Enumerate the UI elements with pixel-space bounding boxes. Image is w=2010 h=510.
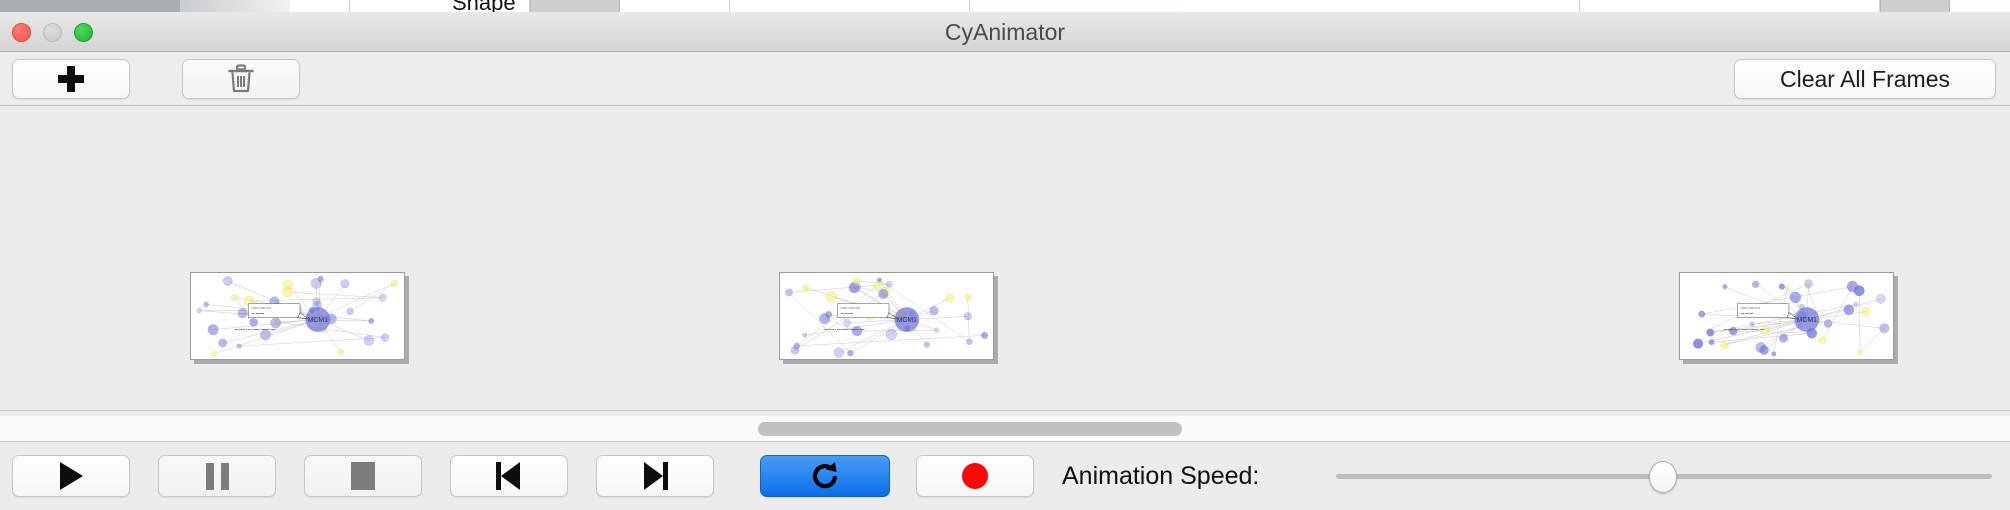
background-cell [290,0,350,12]
network-graph: MCM1•••••• ••••• ••••••• •••••••••• ••••… [191,273,404,360]
background-window-label: Shape [452,0,516,12]
timeline-frame[interactable]: MCM1•••••• ••••• ••••••• •••••••••• ••••… [190,272,405,360]
svg-text:••• ••••• • ••• •••••• •••••••: ••• ••••• • ••• •••••• •••••••• •••• [824,327,866,331]
svg-text:MCM1: MCM1 [308,317,329,324]
timeline-frame[interactable]: MCM1•••••• ••••• ••••••• •••••••••• ••••… [779,272,994,360]
network-graph: MCM1•••••• ••••• ••••••• •••••••••• ••••… [1680,273,1893,360]
clear-all-frames-button[interactable]: Clear All Frames [1734,59,1996,99]
close-icon[interactable] [12,23,31,42]
cyanimator-window: Shape CyAnimator Clear All Frames [0,0,2010,510]
timeline-frame[interactable]: MCM1•••••• ••••• ••••••• •••••••••• ••••… [1679,272,1894,360]
svg-text:••• •••••••: ••• ••••••• [1740,312,1754,316]
play-icon [60,462,83,490]
svg-text:•••••• ••••• ••••: •••••• ••••• •••• [251,306,271,310]
svg-text:••• ••••• • ••• •••••• •••••••: ••• ••••• • ••• •••••• •••••••• •••• [1724,327,1766,331]
svg-text:••• •••••••: ••• ••••••• [251,312,265,316]
pause-icon [206,463,229,490]
background-cell [730,0,970,12]
animation-speed-label: Animation Speed: [1062,455,1259,497]
add-frame-button[interactable] [12,59,130,99]
animation-speed-slider[interactable] [1336,455,1992,497]
svg-text:••• •••••••: ••• ••••••• [840,312,854,316]
previous-frame-button[interactable] [450,455,568,497]
stop-button[interactable] [304,455,422,497]
background-window-strip: Shape [0,0,2010,12]
trash-icon [228,64,254,94]
background-tab [1880,0,1950,12]
clear-all-frames-label: Clear All Frames [1780,66,1950,93]
delete-frame-button[interactable] [182,59,300,99]
timeline-scrollbar-thumb[interactable] [758,422,1182,436]
network-graph: MCM1•••••• ••••• ••••••• •••••••••• ••••… [780,273,993,360]
skip-previous-icon [496,462,522,490]
background-toolbar-dark [0,0,180,12]
playback-controls: Animation Speed: [0,443,2010,510]
svg-text:•••••• ••••• ••••: •••••• ••••• •••• [1740,306,1760,310]
title-bar: CyAnimator [0,12,2010,52]
background-cell [350,0,460,12]
svg-text:MCM1: MCM1 [897,317,918,324]
background-toolbar-gradient [180,0,290,12]
loop-button[interactable] [760,455,890,497]
page-title: CyAnimator [0,12,2010,52]
record-icon [962,463,988,489]
background-cell [620,0,730,12]
play-button[interactable] [12,455,130,497]
loop-icon [809,460,841,492]
stop-icon [351,462,375,490]
plus-icon [58,66,84,92]
record-button[interactable] [916,455,1034,497]
background-cell [1180,0,1580,12]
minimize-icon[interactable] [43,23,62,42]
background-cell [1580,0,1880,12]
window-controls [12,23,93,42]
timeline-scrollbar[interactable] [0,416,2010,442]
skip-next-icon [642,462,668,490]
svg-text:•••••• ••••• ••••: •••••• ••••• •••• [840,306,860,310]
next-frame-button[interactable] [596,455,714,497]
toolbar: Clear All Frames [0,52,2010,106]
maximize-icon[interactable] [74,23,93,42]
animation-speed-thumb[interactable] [1649,461,1677,493]
pause-button[interactable] [158,455,276,497]
svg-text:••• ••••• • ••• •••••• •••••••: ••• ••••• • ••• •••••• •••••••• •••• [235,327,277,331]
svg-text:MCM1: MCM1 [1797,317,1818,324]
background-tab [530,0,620,12]
timeline-panel[interactable]: MCM1•••••• ••••• ••••••• •••••••••• ••••… [0,106,2010,411]
